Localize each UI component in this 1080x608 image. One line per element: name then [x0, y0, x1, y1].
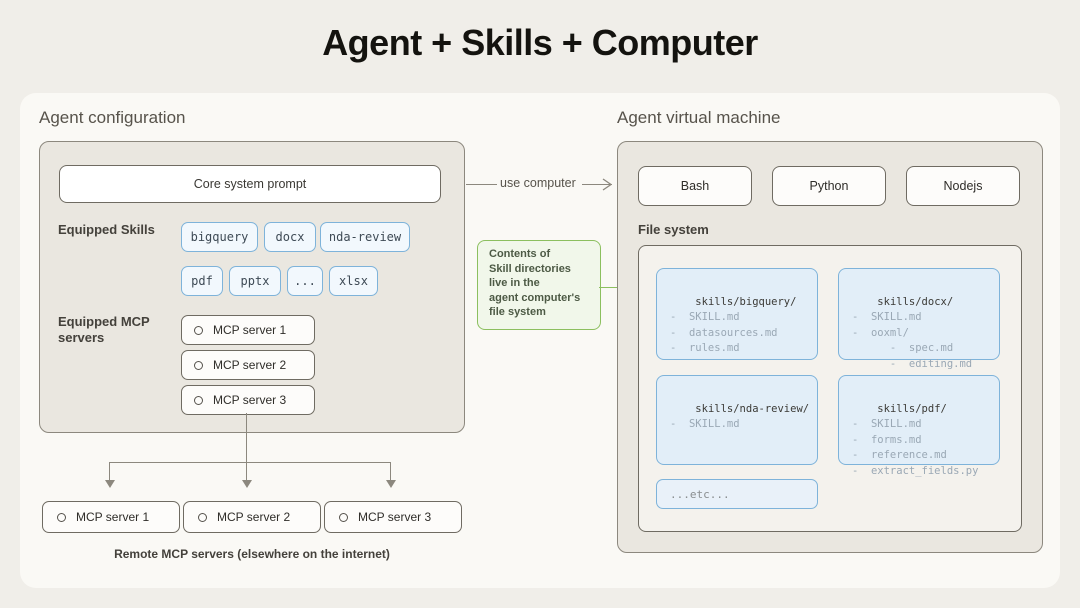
- circle-icon: [194, 396, 203, 405]
- page-title: Agent + Skills + Computer: [0, 22, 1080, 64]
- directory-entry: - datasources.md: [670, 327, 777, 339]
- mcp-server-item-1[interactable]: MCP server 1: [181, 315, 315, 345]
- remote-mcp-server-3[interactable]: MCP server 3: [324, 501, 462, 533]
- directory-entry: - extract_fields.py: [852, 465, 978, 477]
- agent-configuration-heading: Agent configuration: [39, 108, 186, 128]
- directory-box-bigquery: skills/bigquery/ - SKILL.md - datasource…: [656, 268, 818, 360]
- skill-chip-docx[interactable]: docx: [264, 222, 316, 252]
- connector-branch-1: [109, 462, 110, 482]
- directory-box-etc: ...etc...: [656, 479, 818, 509]
- use-computer-label: use computer: [500, 176, 576, 190]
- directory-entry: - SKILL.md: [852, 311, 922, 323]
- circle-icon: [57, 513, 66, 522]
- connector-trunk: [246, 413, 247, 463]
- mcp-server-label: MCP server 2: [213, 358, 286, 372]
- skill-chip-xlsx[interactable]: xlsx: [329, 266, 378, 296]
- directory-entry: - forms.md: [852, 434, 922, 446]
- directory-entry: - editing.md: [852, 358, 972, 370]
- circle-icon: [339, 513, 348, 522]
- directory-entry: - SKILL.md: [670, 311, 740, 323]
- runtime-python[interactable]: Python: [772, 166, 886, 206]
- directory-entry: - rules.md: [670, 342, 740, 354]
- skill-chip-pptx[interactable]: pptx: [229, 266, 281, 296]
- directory-path: skills/nda-review/: [695, 403, 809, 415]
- circle-icon: [198, 513, 207, 522]
- connector-branch-2: [246, 462, 247, 482]
- skill-chip-bigquery[interactable]: bigquery: [181, 222, 258, 252]
- directory-box-pdf: skills/pdf/ - SKILL.md - forms.md - refe…: [838, 375, 1000, 465]
- remote-mcp-server-1[interactable]: MCP server 1: [42, 501, 180, 533]
- directory-entry: - reference.md: [852, 449, 947, 461]
- equipped-skills-label: Equipped Skills: [58, 222, 168, 238]
- directory-box-docx: skills/docx/ - SKILL.md - ooxml/ - spec.…: [838, 268, 1000, 360]
- remote-server-label: MCP server 1: [76, 510, 149, 524]
- arrowhead-right-icon: [602, 177, 616, 192]
- remote-servers-caption: Remote MCP servers (elsewhere on the int…: [42, 547, 462, 561]
- file-system-label: File system: [638, 222, 709, 237]
- arrowhead-2: [242, 480, 252, 488]
- agent-virtual-machine-heading: Agent virtual machine: [617, 108, 780, 128]
- diagram-canvas: Agent + Skills + Computer Agent configur…: [0, 0, 1080, 608]
- directory-path: skills/bigquery/: [695, 296, 796, 308]
- remote-server-label: MCP server 3: [358, 510, 431, 524]
- directory-path: skills/docx/: [877, 296, 953, 308]
- arrowhead-3: [386, 480, 396, 488]
- connector-branch-3: [390, 462, 391, 482]
- directory-entry: - ooxml/: [852, 327, 909, 339]
- circle-icon: [194, 361, 203, 370]
- runtime-bash[interactable]: Bash: [638, 166, 752, 206]
- directory-box-nda-review: skills/nda-review/ - SKILL.md: [656, 375, 818, 465]
- mcp-server-label: MCP server 1: [213, 323, 286, 337]
- arrowhead-1: [105, 480, 115, 488]
- equipped-mcp-servers-label: Equipped MCP servers: [58, 314, 166, 346]
- circle-icon: [194, 326, 203, 335]
- mcp-server-label: MCP server 3: [213, 393, 286, 407]
- directory-path: skills/pdf/: [877, 403, 947, 415]
- remote-server-label: MCP server 2: [217, 510, 290, 524]
- skill-chip-more[interactable]: ...: [287, 266, 323, 296]
- mcp-server-item-3[interactable]: MCP server 3: [181, 385, 315, 415]
- skill-chip-nda-review[interactable]: nda-review: [320, 222, 410, 252]
- connector-bus: [109, 462, 391, 463]
- core-system-prompt-box: Core system prompt: [59, 165, 441, 203]
- directory-entry: - spec.md: [852, 342, 953, 354]
- skill-chip-pdf[interactable]: pdf: [181, 266, 223, 296]
- use-computer-line-left: [466, 184, 497, 185]
- directory-entry: - SKILL.md: [852, 418, 922, 430]
- remote-mcp-server-2[interactable]: MCP server 2: [183, 501, 321, 533]
- directory-entry: - SKILL.md: [670, 418, 740, 430]
- runtime-nodejs[interactable]: Nodejs: [906, 166, 1020, 206]
- mcp-server-item-2[interactable]: MCP server 2: [181, 350, 315, 380]
- skill-contents-callout-text: Contents of Skill directories live in th…: [489, 247, 593, 320]
